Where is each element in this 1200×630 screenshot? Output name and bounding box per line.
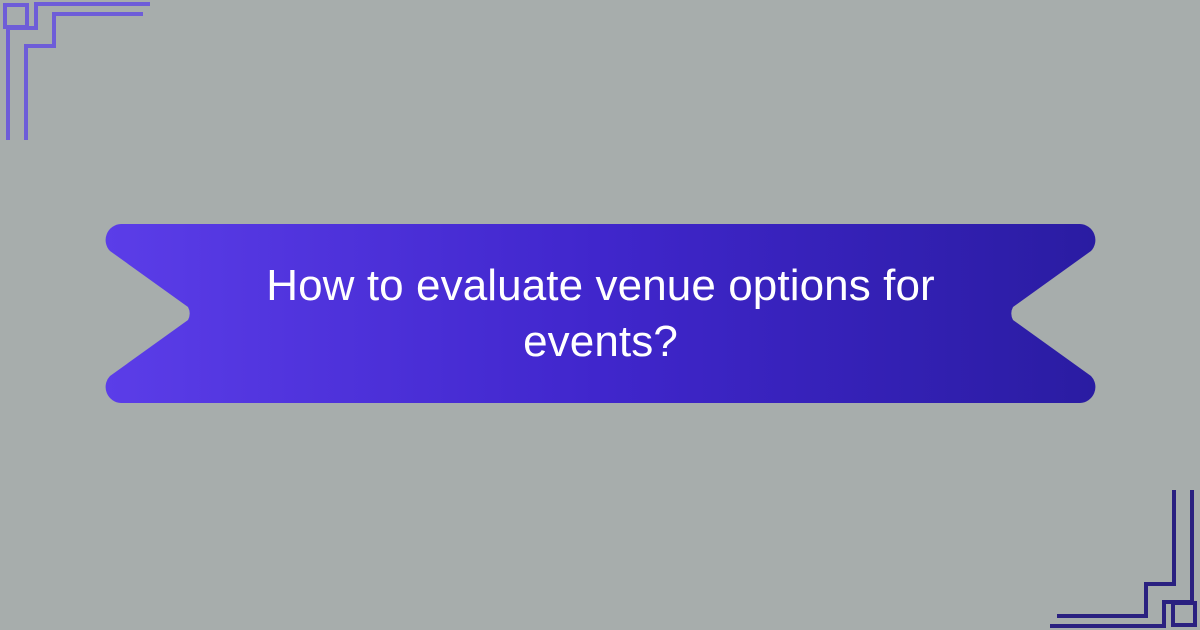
banner-headline-text: How to evaluate venue options for events…	[105, 224, 1096, 403]
corner-line-inner-bottom-right	[1057, 490, 1174, 616]
banner-canvas: How to evaluate venue options for events…	[0, 0, 1200, 630]
headline-banner: How to evaluate venue options for events…	[105, 224, 1096, 403]
banner-headline-line-2: events?	[523, 314, 678, 370]
corner-line-inner-top-left	[26, 14, 143, 140]
corner-frame-top-left	[0, 0, 160, 160]
corner-line-outer-bottom-right	[1050, 490, 1192, 626]
corner-square-accent-bottom-right	[1173, 603, 1195, 625]
corner-square-accent-top-left	[5, 5, 27, 27]
corner-frame-bottom-right	[1040, 470, 1200, 630]
corner-frame-lines-bottom-right	[1050, 490, 1195, 626]
banner-headline-line-1: How to evaluate venue options for	[266, 258, 935, 314]
corner-line-outer-top-left	[8, 4, 150, 140]
corner-frame-lines-top-left	[5, 4, 150, 140]
